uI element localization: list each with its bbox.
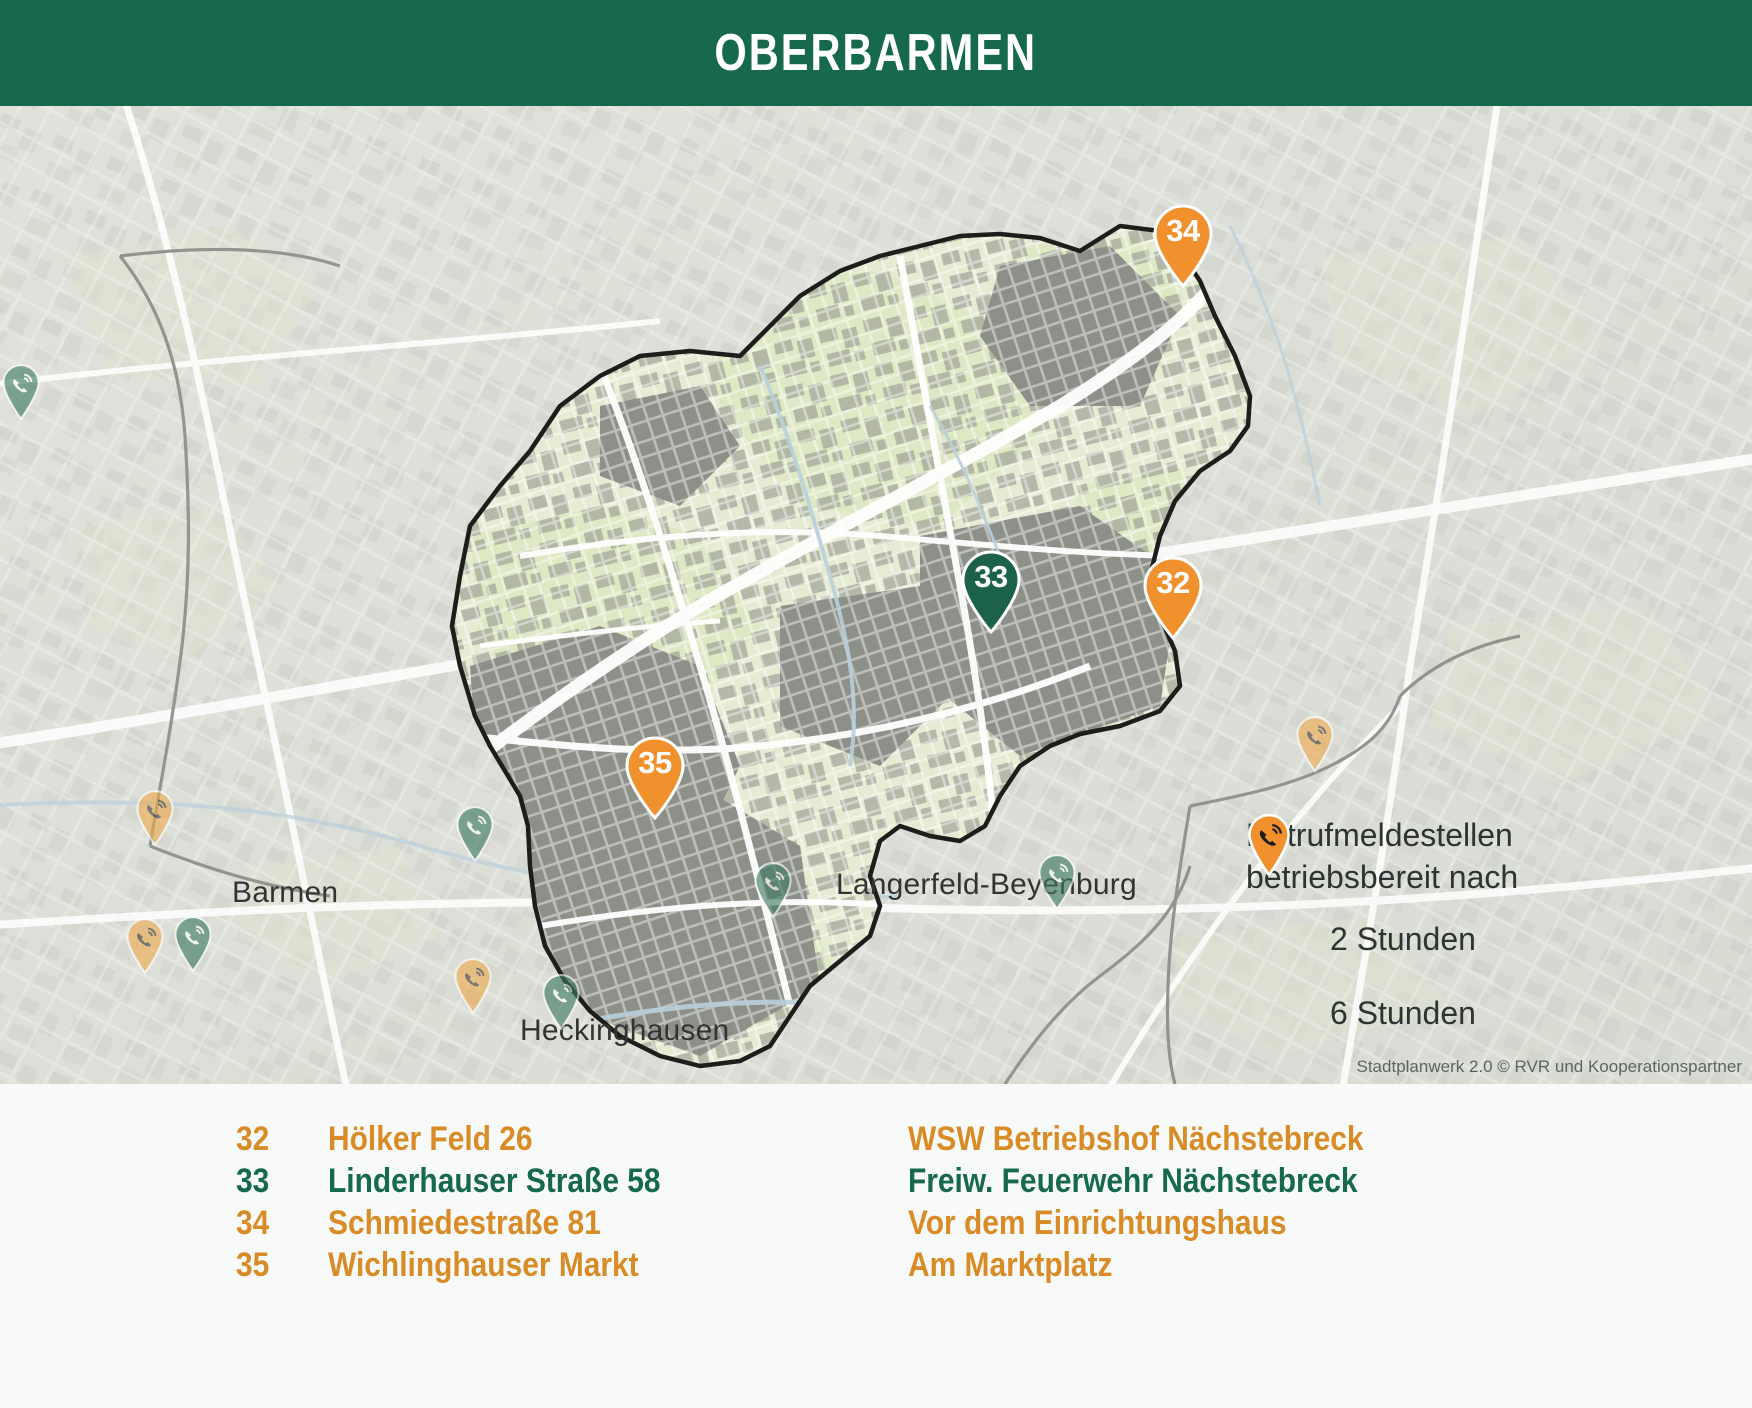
row-street: Linderhauser Straße 58 (328, 1162, 838, 1201)
row-place: Vor dem Einrichtungshaus (908, 1204, 1286, 1243)
row-number: 33 (236, 1162, 317, 1201)
table-row: 35 Wichlinghauser Markt Am Marktplatz (236, 1246, 1426, 1288)
row-place: WSW Betriebshof Nächstebreck (908, 1120, 1364, 1159)
phone-pin-green-icon (172, 916, 214, 972)
phone-pin-orange-icon (124, 918, 166, 974)
phone-pin-orange-icon (134, 790, 176, 846)
phone-pin-green-icon (0, 364, 42, 420)
map-attribution: Stadtplanwerk 2.0 © RVR und Kooperations… (1357, 1057, 1743, 1077)
table-row: 33 Linderhauser Straße 58 Freiw. Feuerwe… (236, 1162, 1426, 1204)
legend-item-6-stunden: 6 Stunden (1246, 980, 1746, 1046)
legend-title-line1: Notrufmeldestellen (1246, 814, 1746, 856)
row-street: Wichlinghauser Markt (328, 1246, 838, 1285)
legend-item-2-stunden: 2 Stunden (1246, 906, 1746, 972)
legend-label-2-stunden: 2 Stunden (1330, 921, 1476, 958)
page-header: OBERBARMEN (0, 0, 1752, 106)
phone-pin-green-icon (540, 974, 582, 1030)
phone-pin-green-icon (454, 806, 496, 862)
phone-pin-orange-icon (1294, 716, 1336, 772)
legend-title-line2: betriebsbereit nach (1246, 856, 1746, 898)
phone-pin-green-icon (1036, 854, 1078, 910)
map-marker-32[interactable]: 32 (1142, 556, 1204, 640)
poster-root: OBERBARMEN (0, 0, 1752, 1408)
station-list: 32 Hölker Feld 26 WSW Betriebshof Nächst… (0, 1084, 1752, 1408)
table-row: 34 Schmiedestraße 81 Vor dem Einrichtung… (236, 1204, 1426, 1246)
map-canvas[interactable]: Barmen Langerfeld-Beyenburg Heckinghause… (0, 106, 1752, 1084)
map-marker-35[interactable]: 35 (624, 736, 686, 820)
map-label-langerfeld-beyenburg: Langerfeld-Beyenburg (836, 868, 1137, 902)
page-title: OBERBARMEN (715, 23, 1038, 83)
phone-pin-green-icon (752, 862, 794, 918)
map-marker-34[interactable]: 34 (1152, 204, 1214, 288)
phone-pin-orange-icon (452, 958, 494, 1014)
row-number: 34 (236, 1204, 317, 1243)
map-label-barmen: Barmen (232, 876, 338, 910)
row-street: Hölker Feld 26 (328, 1120, 838, 1159)
row-place: Am Marktplatz (908, 1246, 1112, 1285)
row-street: Schmiedestraße 81 (328, 1204, 838, 1243)
map-legend: Notrufmeldestellen betriebsbereit nach 2… (1246, 814, 1746, 1046)
legend-label-6-stunden: 6 Stunden (1330, 995, 1476, 1032)
row-place: Freiw. Feuerwehr Nächstebreck (908, 1162, 1358, 1201)
map-marker-33[interactable]: 33 (960, 550, 1022, 634)
table-row: 32 Hölker Feld 26 WSW Betriebshof Nächst… (236, 1120, 1426, 1162)
row-number: 32 (236, 1120, 317, 1159)
row-number: 35 (236, 1246, 317, 1285)
